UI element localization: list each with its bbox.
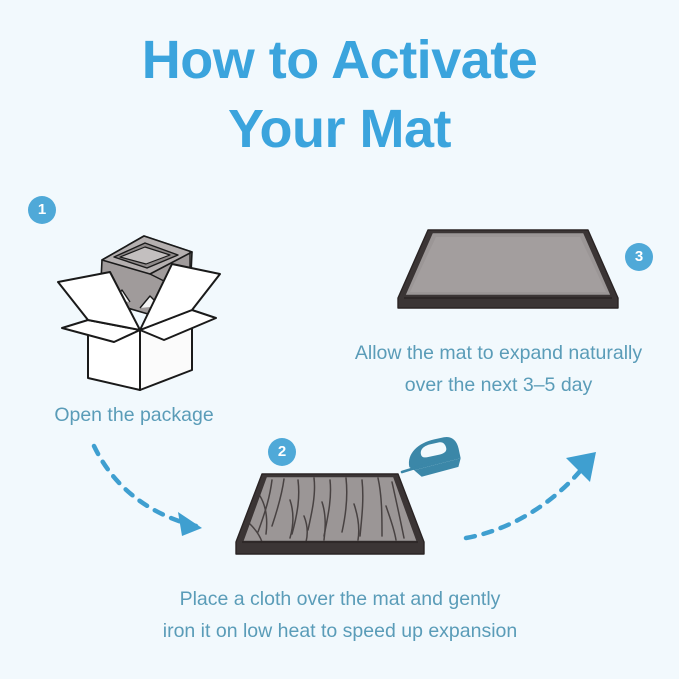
title-line-1: How to Activate — [0, 26, 679, 95]
infographic-poster: How to Activate Your Mat 1 — [0, 0, 679, 679]
arrow-step-1-to-2 — [88, 438, 238, 542]
arrow-step-2-to-3 — [462, 442, 618, 546]
caption-line: iron it on low heat to speed up expansio… — [108, 616, 572, 648]
step-badge-2: 2 — [268, 438, 296, 466]
step-2-caption: Place a cloth over the mat and gently ir… — [108, 584, 572, 647]
step-badge-1: 1 — [28, 196, 56, 224]
step-1-caption: Open the package — [0, 400, 268, 432]
expanded-mat-illustration — [396, 222, 620, 330]
iron-icon — [398, 436, 468, 482]
caption-line: Allow the mat to expand naturally — [318, 338, 679, 370]
step-badge-3: 3 — [625, 243, 653, 271]
open-box-illustration — [44, 222, 224, 390]
title-line-2: Your Mat — [0, 95, 679, 164]
caption-line: over the next 3–5 day — [318, 370, 679, 402]
page-title: How to Activate Your Mat — [0, 26, 679, 164]
caption-line: Place a cloth over the mat and gently — [108, 584, 572, 616]
caption-line: Open the package — [0, 400, 268, 432]
step-3-caption: Allow the mat to expand naturally over t… — [318, 338, 679, 401]
